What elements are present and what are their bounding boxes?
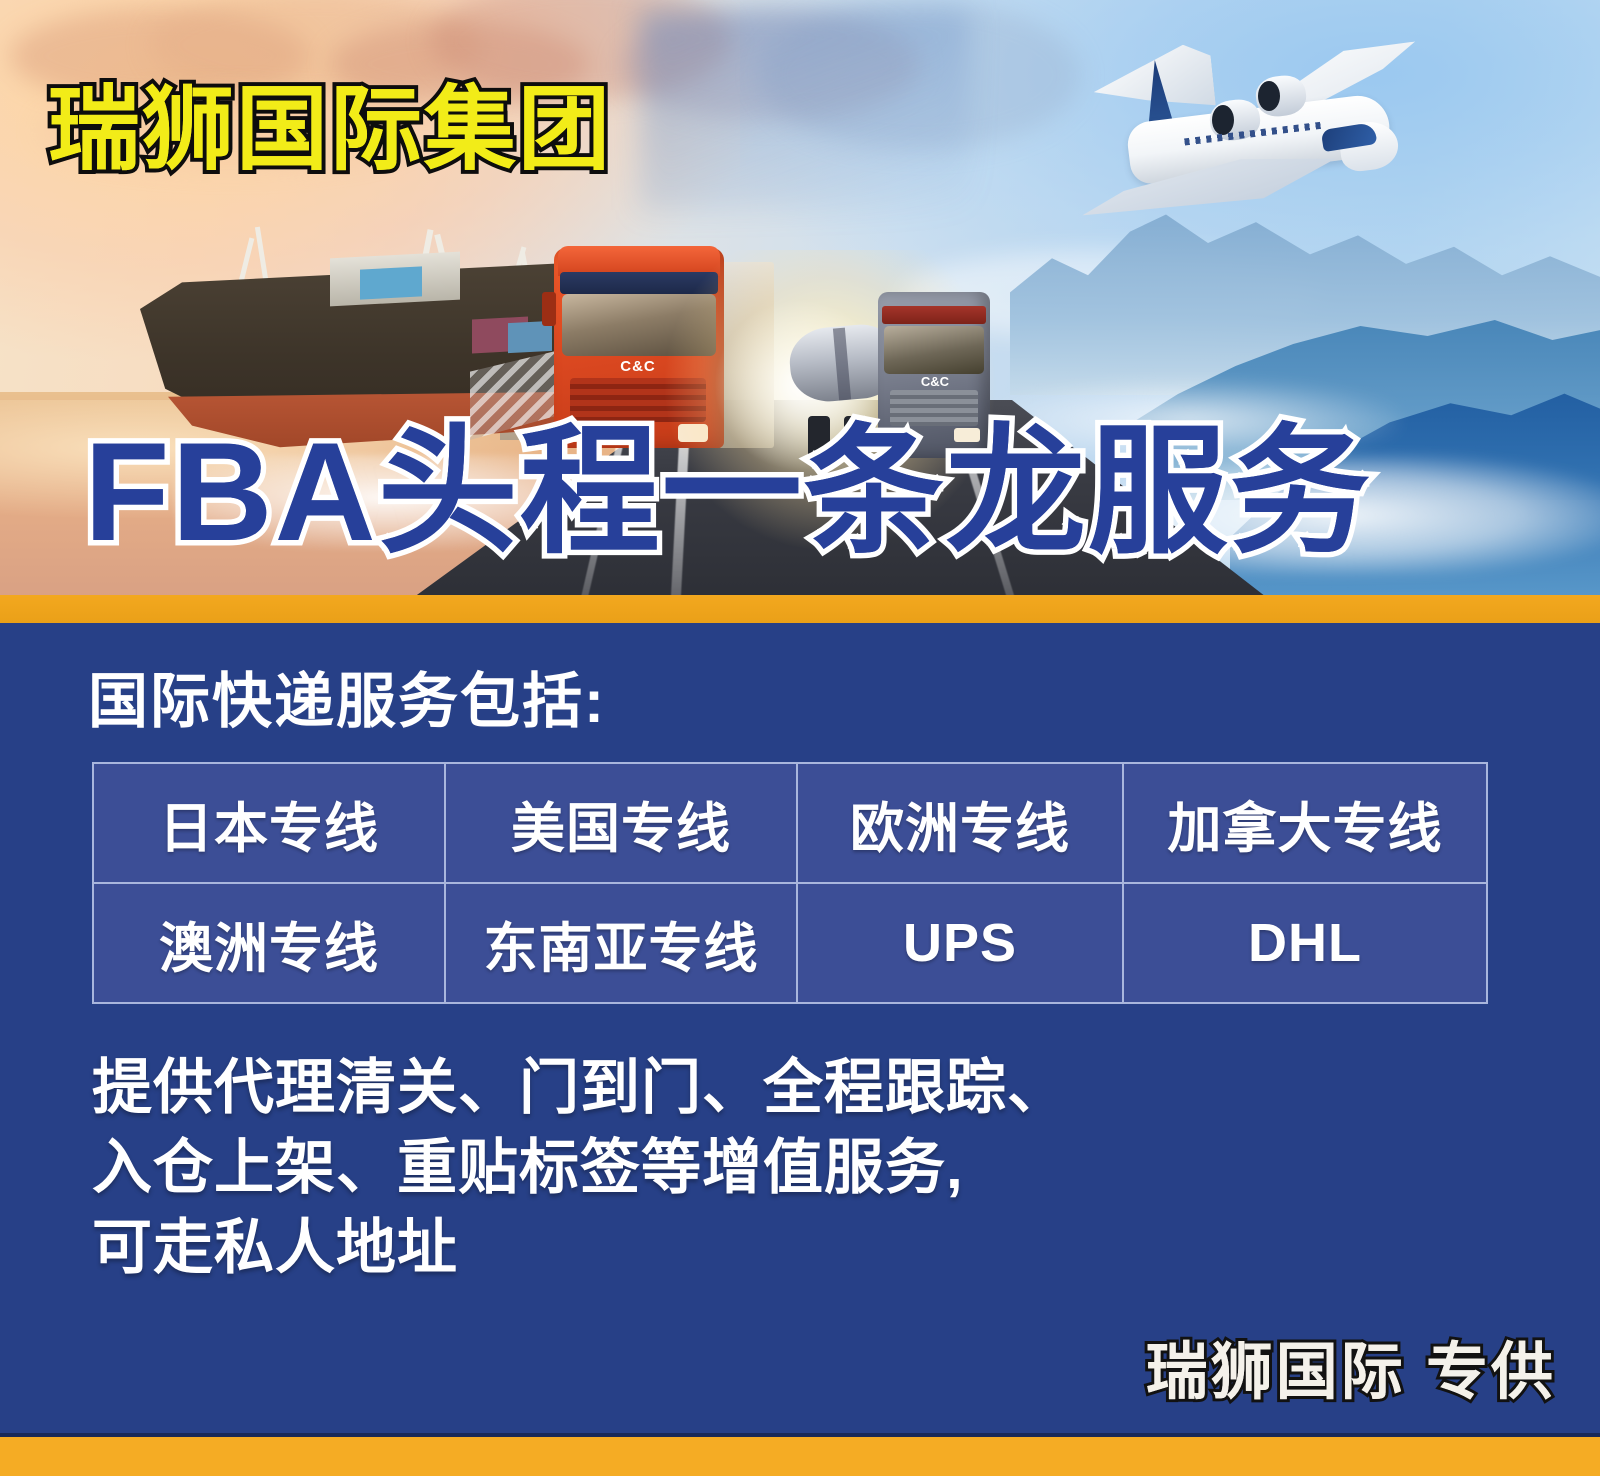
- table-row: 日本专线 美国专线 欧洲专线 加拿大专线: [93, 763, 1487, 883]
- orange-divider: [0, 595, 1600, 623]
- description-line-3: 可走私人地址: [92, 1208, 1068, 1288]
- airplane-engine-intake: [1212, 105, 1234, 135]
- service-cell-canada[interactable]: 加拿大专线: [1123, 763, 1487, 883]
- airplane-icon: [1060, 30, 1410, 220]
- silver-truck-badge: C&C: [908, 374, 962, 389]
- shipping-container-icon: [360, 266, 422, 299]
- description-line-2: 入仓上架、重贴标签等增值服务,: [92, 1128, 1068, 1208]
- promo-poster: C&C C&C: [0, 0, 1600, 1476]
- description-line-1: 提供代理清关、门到门、全程跟踪、: [92, 1048, 1068, 1128]
- bottom-accent-bar: [0, 1437, 1600, 1476]
- airplane-engine-intake: [1258, 81, 1280, 111]
- footer-signature: 瑞狮国际 专供: [1146, 1321, 1556, 1411]
- services-description: 提供代理清关、门到门、全程跟踪、 入仓上架、重贴标签等增值服务, 可走私人地址: [92, 1048, 1068, 1287]
- brand-logo: 瑞狮国际集团: [48, 84, 612, 176]
- service-cell-japan[interactable]: 日本专线: [93, 763, 445, 883]
- container-stack-haze: [640, 10, 970, 210]
- services-panel: 国际快递服务包括: 日本专线 美国专线 欧洲专线 加拿大专线 澳洲专线 东南亚专…: [0, 623, 1600, 1437]
- hero-headline: FBA头程一条龙服务: [84, 422, 1372, 562]
- silver-truck-brand-band: [882, 306, 986, 324]
- red-truck-mirror: [542, 292, 556, 326]
- service-cell-dhl[interactable]: DHL: [1123, 883, 1487, 1003]
- silver-truck-windshield: [884, 326, 984, 374]
- service-cell-southeast-asia[interactable]: 东南亚专线: [445, 883, 797, 1003]
- service-cell-europe[interactable]: 欧洲专线: [797, 763, 1123, 883]
- service-cell-australia[interactable]: 澳洲专线: [93, 883, 445, 1003]
- services-table: 日本专线 美国专线 欧洲专线 加拿大专线 澳洲专线 东南亚专线 UPS DHL: [92, 762, 1488, 1004]
- table-row: 澳洲专线 东南亚专线 UPS DHL: [93, 883, 1487, 1003]
- service-cell-usa[interactable]: 美国专线: [445, 763, 797, 883]
- service-cell-ups[interactable]: UPS: [797, 883, 1123, 1003]
- services-heading: 国际快递服务包括:: [88, 653, 606, 740]
- hero-image: C&C C&C: [0, 0, 1600, 595]
